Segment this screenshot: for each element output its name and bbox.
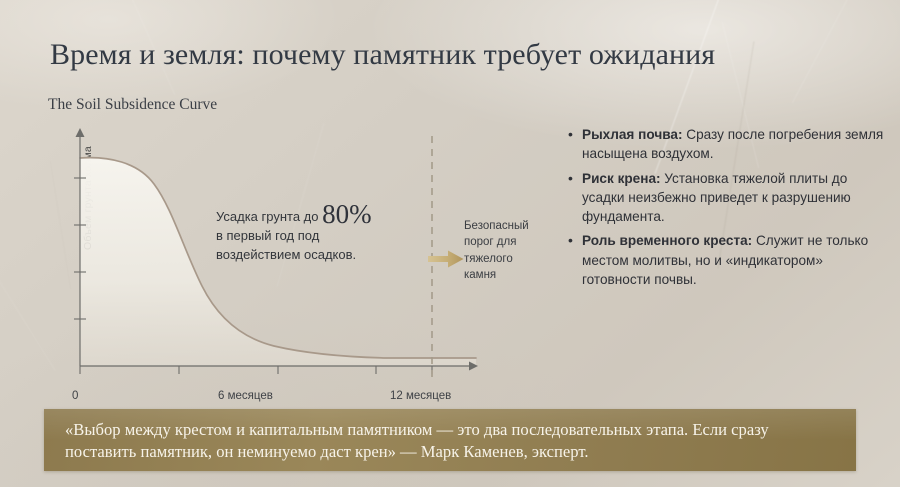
chart-x-tick-label: 6 месяцев (218, 390, 273, 402)
bullet-marker-icon: • (568, 231, 573, 251)
annotation-line2: в первый год под (216, 228, 319, 243)
key-points-list: • Рыхлая почва: Сразу после погребения з… (567, 125, 889, 294)
chart-plot-area: Усадка грунта до 80% в первый год под во… (46, 122, 546, 384)
slide-canvas: Время и земля: почему памятник требует о… (0, 0, 900, 487)
chart-threshold-label: Безопасный порог для тяжелого камня (464, 218, 550, 283)
chart-x-tick-label: 0 (72, 390, 78, 402)
list-item-lead: Рыхлая почва: (582, 127, 682, 142)
chart-x-tick-label: 12 месяцев (390, 390, 451, 402)
threshold-label-line: камня (464, 267, 550, 283)
annotation-line3: воздействием осадков. (216, 247, 356, 262)
quote-banner: «Выбор между крестом и капитальным памят… (44, 409, 856, 471)
threshold-label-line: тяжелого (464, 251, 550, 267)
chart-y-axis-arrowhead (76, 128, 85, 137)
annotation-line1-prefix: Усадка грунта до (216, 209, 322, 224)
bullet-marker-icon: • (568, 125, 573, 145)
threshold-label-line: Безопасный (464, 218, 550, 234)
chart-annotation: Усадка грунта до 80% в первый год под во… (216, 202, 416, 265)
bullet-marker-icon: • (568, 169, 573, 189)
threshold-label-line: порог для (464, 234, 550, 250)
list-item: • Роль временного креста: Служит не толь… (567, 231, 889, 289)
chart-title: The Soil Subsidence Curve (48, 96, 546, 114)
annotation-highlight-value: 80% (322, 199, 372, 229)
list-item-lead: Роль временного креста: (582, 233, 752, 248)
page-title: Время и земля: почему памятник требует о… (50, 38, 870, 73)
quote-text: «Выбор между крестом и капитальным памят… (65, 419, 840, 463)
threshold-arrow-icon (428, 250, 464, 268)
chart-block: The Soil Subsidence Curve Объем грунта х… (46, 96, 546, 386)
list-item-lead: Риск крена: (582, 171, 661, 186)
list-item: • Риск крена: Установка тяжелой плиты до… (567, 169, 889, 227)
list-item: • Рыхлая почва: Сразу после погребения з… (567, 125, 889, 164)
